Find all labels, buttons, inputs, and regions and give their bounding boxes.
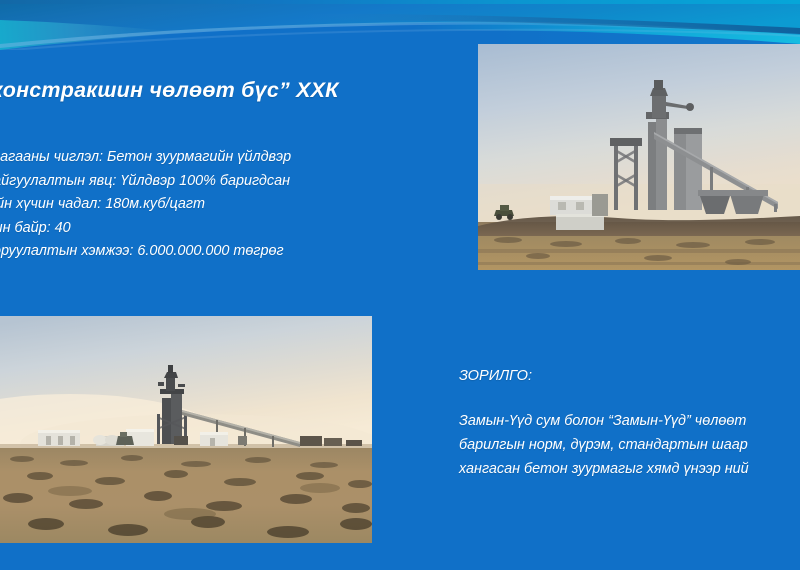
goal-label: ЗОРИЛГО:	[459, 366, 800, 387]
right-text-block: ЗОРИЛГО: Замын-Үүд сум болон “Замын-Үүд”…	[459, 366, 800, 481]
goal-line-1: Замын-Үүд сум болон “Замын-Үүд” чөлөөт	[459, 409, 800, 433]
concrete-batching-plant-photo	[478, 44, 800, 270]
slide-title: ос констракшин чөлөөт бүс” ХХК	[0, 78, 440, 103]
left-text-block: жиллагааны чиглэл: Бетон зуурмагийн үйлд…	[0, 146, 436, 264]
plant-site-wide-photo	[0, 316, 372, 543]
goal-line-3: хангасан бетон зуурмагыг хямд үнээр ний	[459, 457, 800, 481]
header-banner	[0, 0, 800, 50]
slide-canvas: ос констракшин чөлөөт бүс” ХХК жиллагаан…	[0, 0, 800, 570]
left-line-4: ажлын байр: 40	[0, 217, 436, 241]
left-line-5: нгө оруулалтын хэмжээ: 6.000.000.000 төг…	[0, 240, 436, 264]
goal-spacer	[459, 387, 800, 409]
left-line-3: ээрийн хүчин чадал: 180м.куб/цагт	[0, 193, 436, 217]
left-line-1: жиллагааны чиглэл: Бетон зуурмагийн үйлд…	[0, 146, 436, 170]
left-line-2: эн байгуулалтын явц: Үйлдвэр 100% баригд…	[0, 170, 436, 194]
goal-line-2: барилгын норм, дүрэм, стандартын шаар	[459, 433, 800, 457]
